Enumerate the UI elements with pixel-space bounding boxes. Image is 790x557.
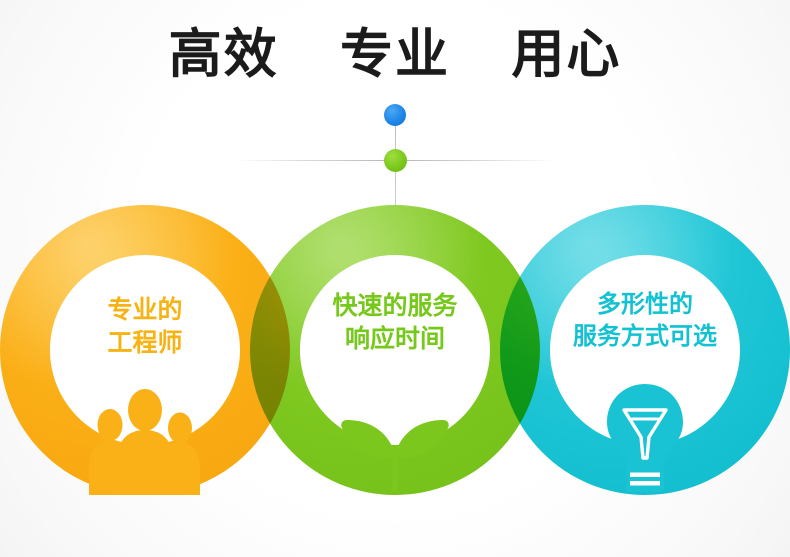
infographic-canvas: 高效 专业 用心 专业的 工程师: [0, 0, 790, 557]
ring-cyan-hole: [550, 255, 740, 445]
ring-green-hole: [300, 255, 490, 445]
ring-cyan: [500, 205, 790, 495]
ring-green: [250, 205, 540, 495]
venn-rings-group: [0, 0, 790, 557]
ring-orange-hole: [50, 255, 240, 445]
ring-orange: [0, 205, 290, 495]
